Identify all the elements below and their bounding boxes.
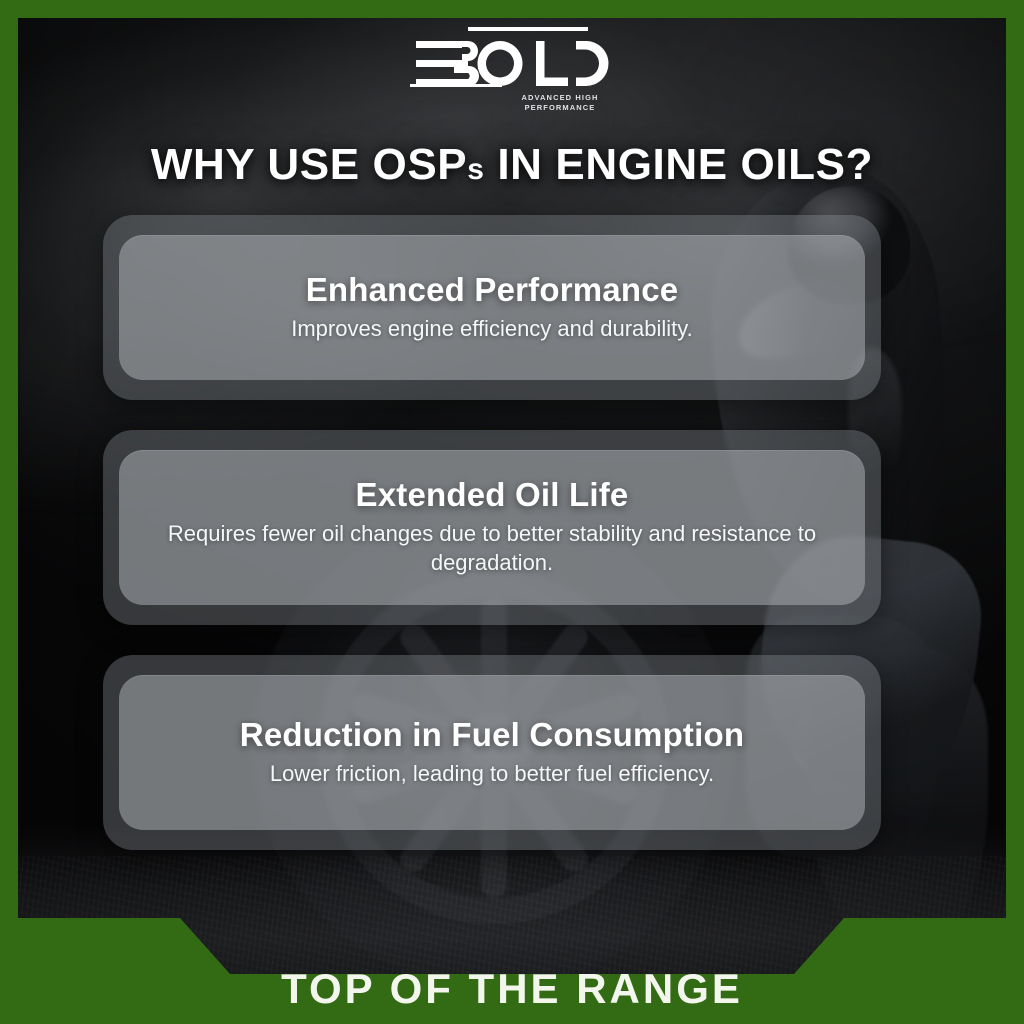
benefit-card-title: Enhanced Performance [306,272,679,309]
headline-part-before: WHY USE OSP [151,140,467,189]
logo-tagline-line2: PERFORMANCE [500,103,620,113]
page-title: WHY USE OSPs IN ENGINE OILS? [0,140,1024,190]
benefit-card[interactable]: Extended Oil Life Requires fewer oil cha… [103,430,881,625]
headline-small-s: s [467,153,484,186]
benefit-card-title: Extended Oil Life [356,477,629,514]
benefit-card-description: Requires fewer oil changes due to better… [145,520,839,577]
benefit-card-list: Enhanced Performance Improves engine eff… [103,215,881,880]
poster: ADVANCED HIGH PERFORMANCE WHY USE OSPs I… [0,0,1024,1024]
benefit-card-inner: Enhanced Performance Improves engine eff… [119,235,865,380]
bold-wordmark-logo [404,27,620,91]
headline-part-after: IN ENGINE OILS? [485,140,874,189]
benefit-card-inner: Extended Oil Life Requires fewer oil cha… [119,450,865,605]
bottom-banner-text: TOP OF THE RANGE [281,968,743,1024]
content-layer: ADVANCED HIGH PERFORMANCE WHY USE OSPs I… [0,0,1024,1024]
logo-tagline-line1: ADVANCED HIGH [500,93,620,103]
benefit-card[interactable]: Reduction in Fuel Consumption Lower fric… [103,655,881,850]
benefit-card-description: Improves engine efficiency and durabilit… [291,315,693,344]
benefit-card[interactable]: Enhanced Performance Improves engine eff… [103,215,881,400]
benefit-card-inner: Reduction in Fuel Consumption Lower fric… [119,675,865,830]
benefit-card-description: Lower friction, leading to better fuel e… [270,760,714,789]
logo-tagline: ADVANCED HIGH PERFORMANCE [500,93,620,113]
benefit-card-title: Reduction in Fuel Consumption [240,717,744,754]
brand-logo: ADVANCED HIGH PERFORMANCE [0,27,1024,113]
